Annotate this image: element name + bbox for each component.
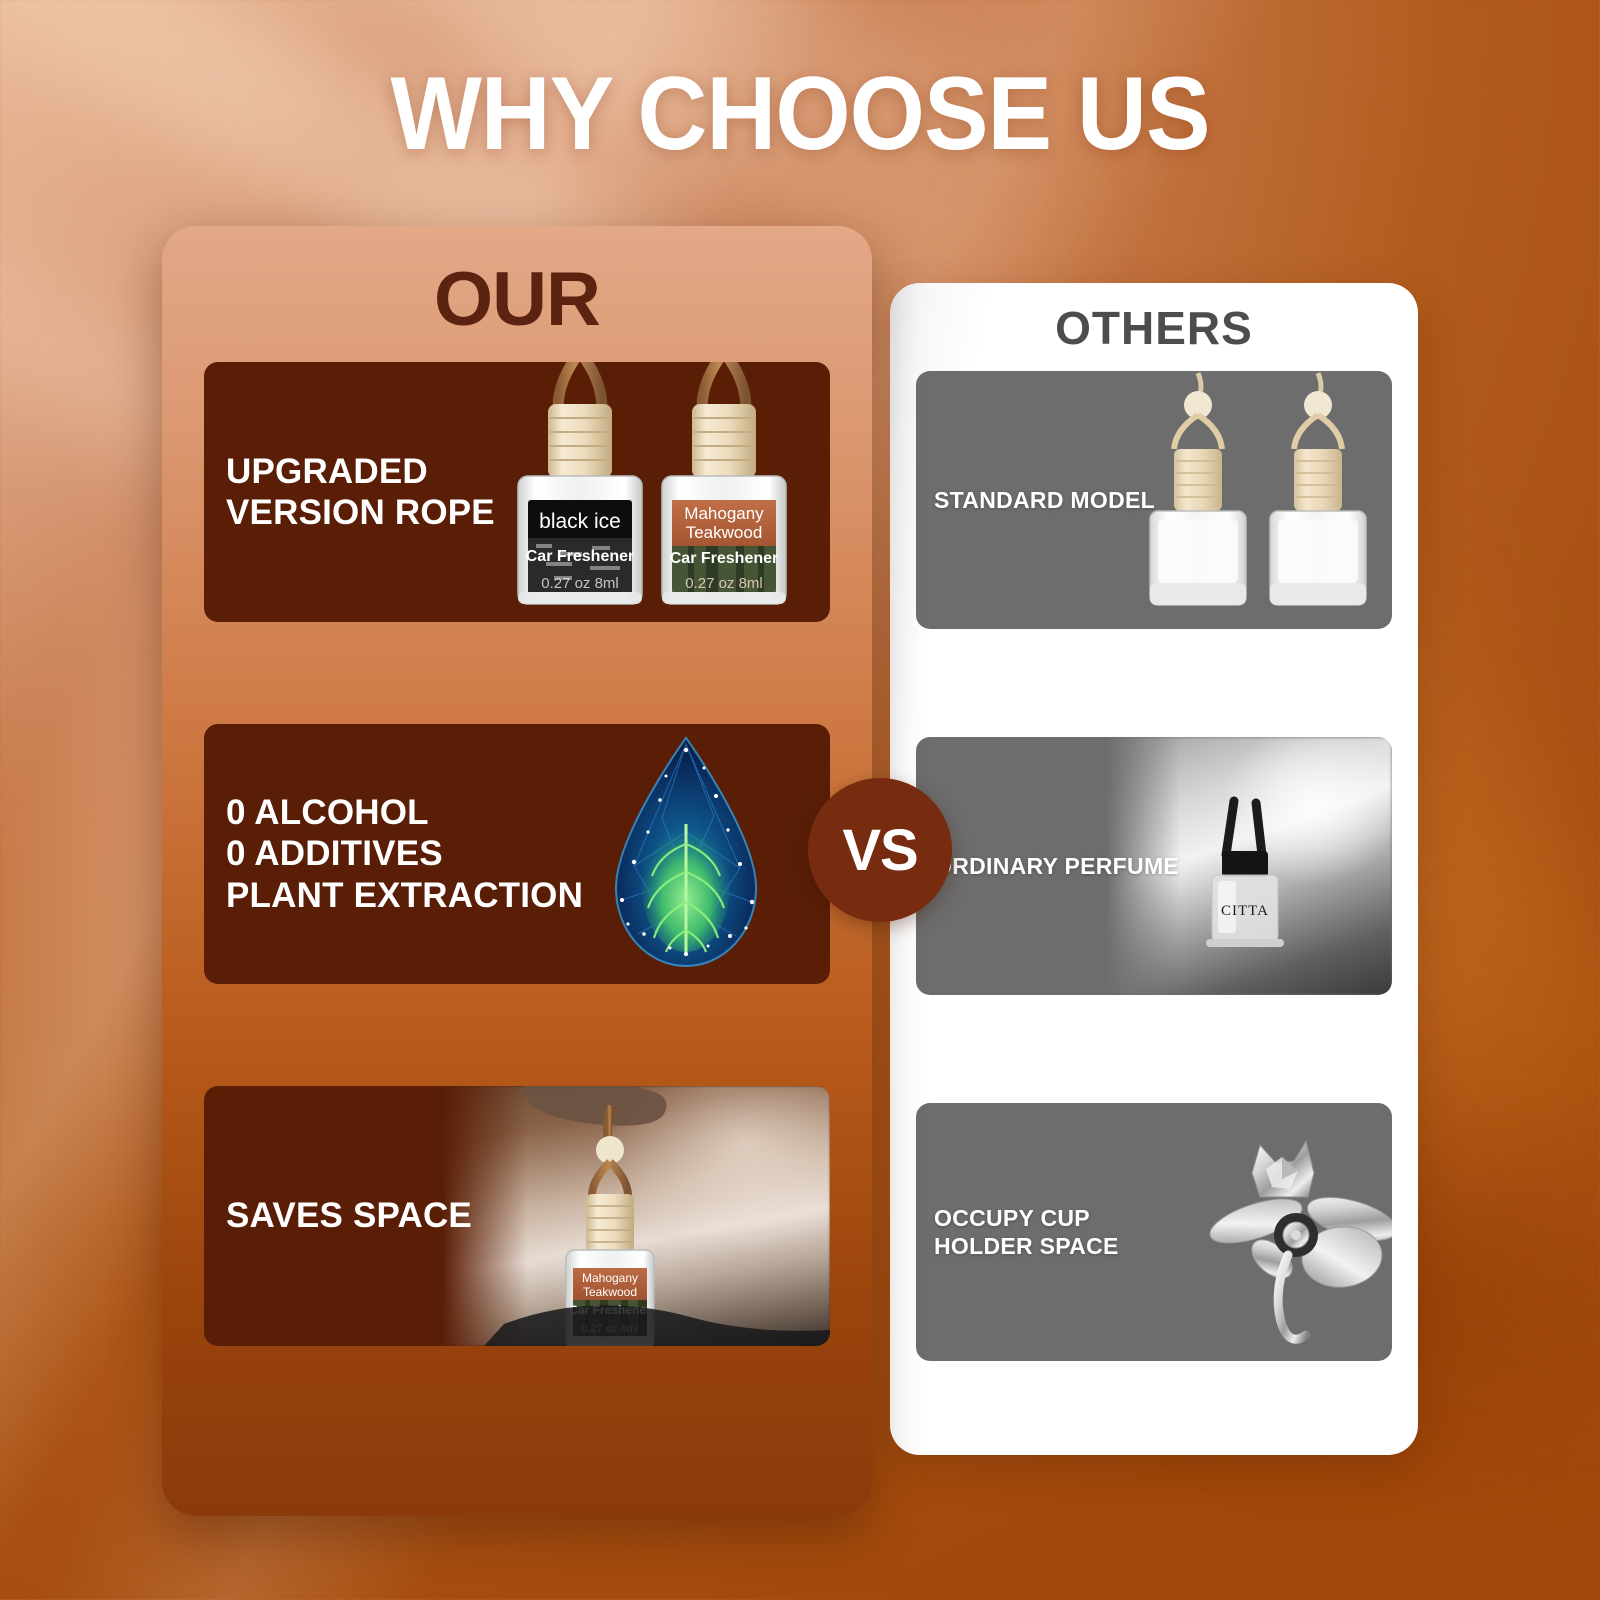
others-card-label: OCCUPY CUP HOLDER SPACE [916,1204,1119,1260]
svg-text:CITTA: CITTA [1221,903,1269,919]
our-card-saves-space[interactable]: Mahogany Teakwood Car Freshener 0.27 oz … [204,1086,830,1346]
svg-text:black ice: black ice [539,510,621,533]
svg-text:Car Freshener: Car Freshener [670,550,779,567]
others-card-occupy-cup-holder[interactable]: OCCUPY CUP HOLDER SPACE [916,1103,1392,1361]
svg-text:Teakwood: Teakwood [583,1285,637,1299]
our-panel: OUR [162,226,872,1516]
our-card-list: black ice Car Freshener 0.27 oz 8ml [162,338,872,1346]
svg-text:0.27 oz 8ml: 0.27 oz 8ml [541,575,619,592]
our-card-plant-extraction[interactable]: 0 ALCOHOL 0 ADDITIVES PLANT EXTRACTION [204,724,830,984]
svg-text:Car Freshener: Car Freshener [526,548,635,565]
our-card-label: 0 ALCOHOL 0 ADDITIVES PLANT EXTRACTION [204,792,583,916]
others-card-ordinary-perfume[interactable]: CITTA ORDINARY PERFUME [916,737,1392,995]
svg-text:0.27 oz 8ml: 0.27 oz 8ml [685,575,763,592]
others-card-label: ORDINARY PERFUME [916,852,1179,880]
others-card-label: STANDARD MODEL [916,486,1155,514]
our-heading: OUR [162,226,872,338]
svg-text:Mahogany: Mahogany [684,504,764,523]
our-card-label: UPGRADED VERSION ROPE [204,451,495,534]
svg-text:Teakwood: Teakwood [686,523,763,542]
others-panel: OTHERS [890,283,1418,1455]
others-heading: OTHERS [890,283,1418,355]
vs-label: VS [842,817,917,884]
svg-text:Mahogany: Mahogany [582,1271,638,1285]
our-card-upgraded-rope[interactable]: black ice Car Freshener 0.27 oz 8ml [204,362,830,622]
page-title: WHY CHOOSE US [56,62,1544,166]
others-card-list: STANDARD MODEL CITTA ORDINA [890,355,1418,1361]
others-card-standard-model[interactable]: STANDARD MODEL [916,371,1392,629]
our-card-label: SAVES SPACE [204,1195,472,1236]
vs-badge: VS [808,778,952,922]
